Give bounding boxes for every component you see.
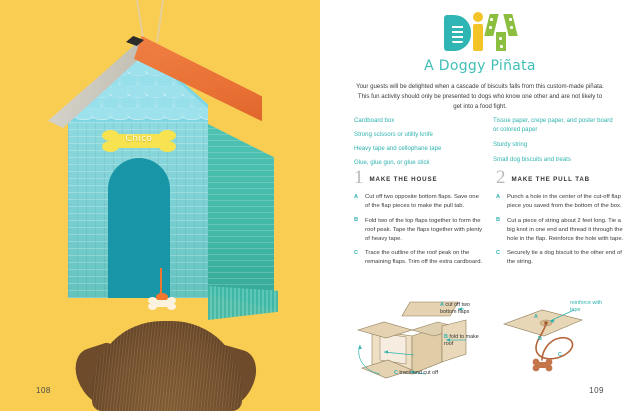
logo-i-dot	[473, 12, 483, 22]
tab-marker-a-letter: A	[534, 314, 538, 320]
intro-paragraph: Your guests will be delighted when a cas…	[354, 82, 606, 112]
materials-list: Cardboard box Strong scissors or utility…	[354, 116, 618, 172]
page-number-left: 108	[36, 386, 51, 395]
logo-y-speck	[500, 45, 503, 48]
material-item: Glue, glue gun, or glue stick	[354, 158, 479, 167]
shingle-scale	[68, 52, 86, 64]
logo-letter-i	[473, 24, 483, 51]
logo-letter-d	[444, 15, 471, 51]
left-page-photo: Chico 108	[0, 0, 320, 411]
steps-section: 1 MAKE THE HOUSE A Cut off two opposite …	[354, 170, 626, 273]
bone-nameplate: Chico	[100, 128, 178, 154]
page-number-right: 109	[589, 386, 604, 395]
logo-y-speck	[509, 18, 512, 21]
dog-head	[92, 316, 242, 411]
house-side-face	[208, 124, 274, 309]
step-2-title: MAKE THE PULL TAB	[512, 170, 591, 183]
tab-marker-b-letter: B	[538, 336, 542, 342]
box-label-b-text: fold to make roof	[444, 334, 479, 347]
material-item: Sturdy string	[493, 140, 618, 149]
box-label-a: A cut off two bottom flaps	[440, 302, 484, 317]
step-1-header: 1 MAKE THE HOUSE	[354, 170, 484, 186]
substep: C Securely tie a dog biscuit to the othe…	[496, 249, 626, 267]
box-label-a-text: cut off two bottom flaps	[440, 302, 470, 315]
logo-y-speck	[490, 18, 493, 21]
dog-house-pinata: Chico	[38, 36, 286, 301]
substep-text: Cut a piece of string about 2 feet long.…	[507, 217, 626, 244]
recipe-subtitle: A Doggy Piñata	[320, 58, 640, 74]
box-label-b: B fold to make roof	[444, 334, 484, 349]
box-label-c-letter: C	[394, 370, 398, 376]
substep-letter: A	[496, 193, 502, 211]
box-label-b-letter: B	[444, 334, 448, 340]
logo-y-stem	[496, 32, 506, 51]
shingle-scale	[82, 52, 104, 64]
logo-y-speck	[510, 26, 513, 29]
material-item: Tissue paper, crepe paper, and poster bo…	[493, 116, 618, 135]
material-item: Small dog biscuits and treats	[493, 155, 618, 164]
substep-letter: C	[354, 249, 360, 267]
diy-logo	[320, 14, 640, 60]
dog-fur-texture	[92, 321, 242, 411]
tab-marker-b: B	[538, 336, 542, 343]
substep-text: Securely tie a dog biscuit to the other …	[507, 249, 626, 267]
dog-fur	[92, 321, 242, 411]
tab-callout-label: reinforce with tape	[570, 300, 614, 315]
material-item: Strong scissors or utility knife	[354, 130, 479, 139]
pinata-photograph: Chico	[0, 0, 320, 411]
tab-marker-c-letter: C	[558, 352, 562, 358]
box-label-a-letter: A	[440, 302, 444, 308]
house-fringe	[208, 286, 278, 320]
tab-marker-a: A	[534, 314, 538, 321]
logo-letter-y	[486, 14, 516, 51]
substep: B Cut a piece of string about 2 feet lon…	[496, 217, 626, 244]
pull-tab-diagram: reinforce with tape A B C	[496, 296, 616, 382]
materials-column-1: Cardboard box Strong scissors or utility…	[354, 116, 479, 172]
right-page-instructions: A Doggy Piñata Your guests will be delig…	[320, 0, 640, 411]
substep-text: Fold two of the top flaps together to fo…	[365, 217, 484, 244]
substep: A Punch a hole in the center of the cut-…	[496, 193, 626, 211]
substep: A Cut off two opposite bottom flaps. Sav…	[354, 193, 484, 211]
material-item: Cardboard box	[354, 116, 479, 125]
step-2: 2 MAKE THE PULL TAB A Punch a hole in th…	[496, 170, 626, 273]
step-2-number: 2	[496, 170, 506, 186]
substep: C Trace the outline of the roof peak on …	[354, 249, 484, 267]
nameplate-text: Chico	[100, 134, 178, 144]
shingle-scale	[73, 63, 95, 75]
step-1-number: 1	[354, 170, 364, 186]
substep: B Fold two of the top flaps together to …	[354, 217, 484, 244]
cardboard-box-diagram: A cut off two bottom flaps B fold to mak…	[354, 300, 482, 382]
logo-y-speck	[499, 37, 502, 40]
substep-letter: C	[496, 249, 502, 267]
biscuit-bar	[154, 300, 170, 307]
substep-text: Cut off two opposite bottom flaps. Save …	[365, 193, 484, 211]
substep-letter: B	[354, 217, 360, 244]
step-1-title: MAKE THE HOUSE	[370, 170, 438, 183]
material-item: Heavy tape and cellophane tape	[354, 144, 479, 153]
logo-y-speck	[489, 26, 492, 29]
hanging-biscuit	[148, 296, 176, 310]
box-label-c: C trace and cut off	[394, 370, 486, 377]
substep-letter: A	[354, 193, 360, 211]
shingle-scale	[68, 74, 86, 86]
logo-d-stripes	[452, 24, 463, 43]
substep-text: Trace the outline of the roof peak on th…	[365, 249, 484, 267]
box-label-c-text: trace and cut off	[399, 370, 438, 376]
step-1: 1 MAKE THE HOUSE A Cut off two opposite …	[354, 170, 484, 273]
book-spread: Chico 108	[0, 0, 640, 411]
step-2-header: 2 MAKE THE PULL TAB	[496, 170, 626, 186]
substep-letter: B	[496, 217, 502, 244]
tab-marker-c: C	[558, 352, 562, 359]
materials-column-2: Tissue paper, crepe paper, and poster bo…	[493, 116, 618, 172]
substep-text: Punch a hole in the center of the cut-of…	[507, 193, 626, 211]
